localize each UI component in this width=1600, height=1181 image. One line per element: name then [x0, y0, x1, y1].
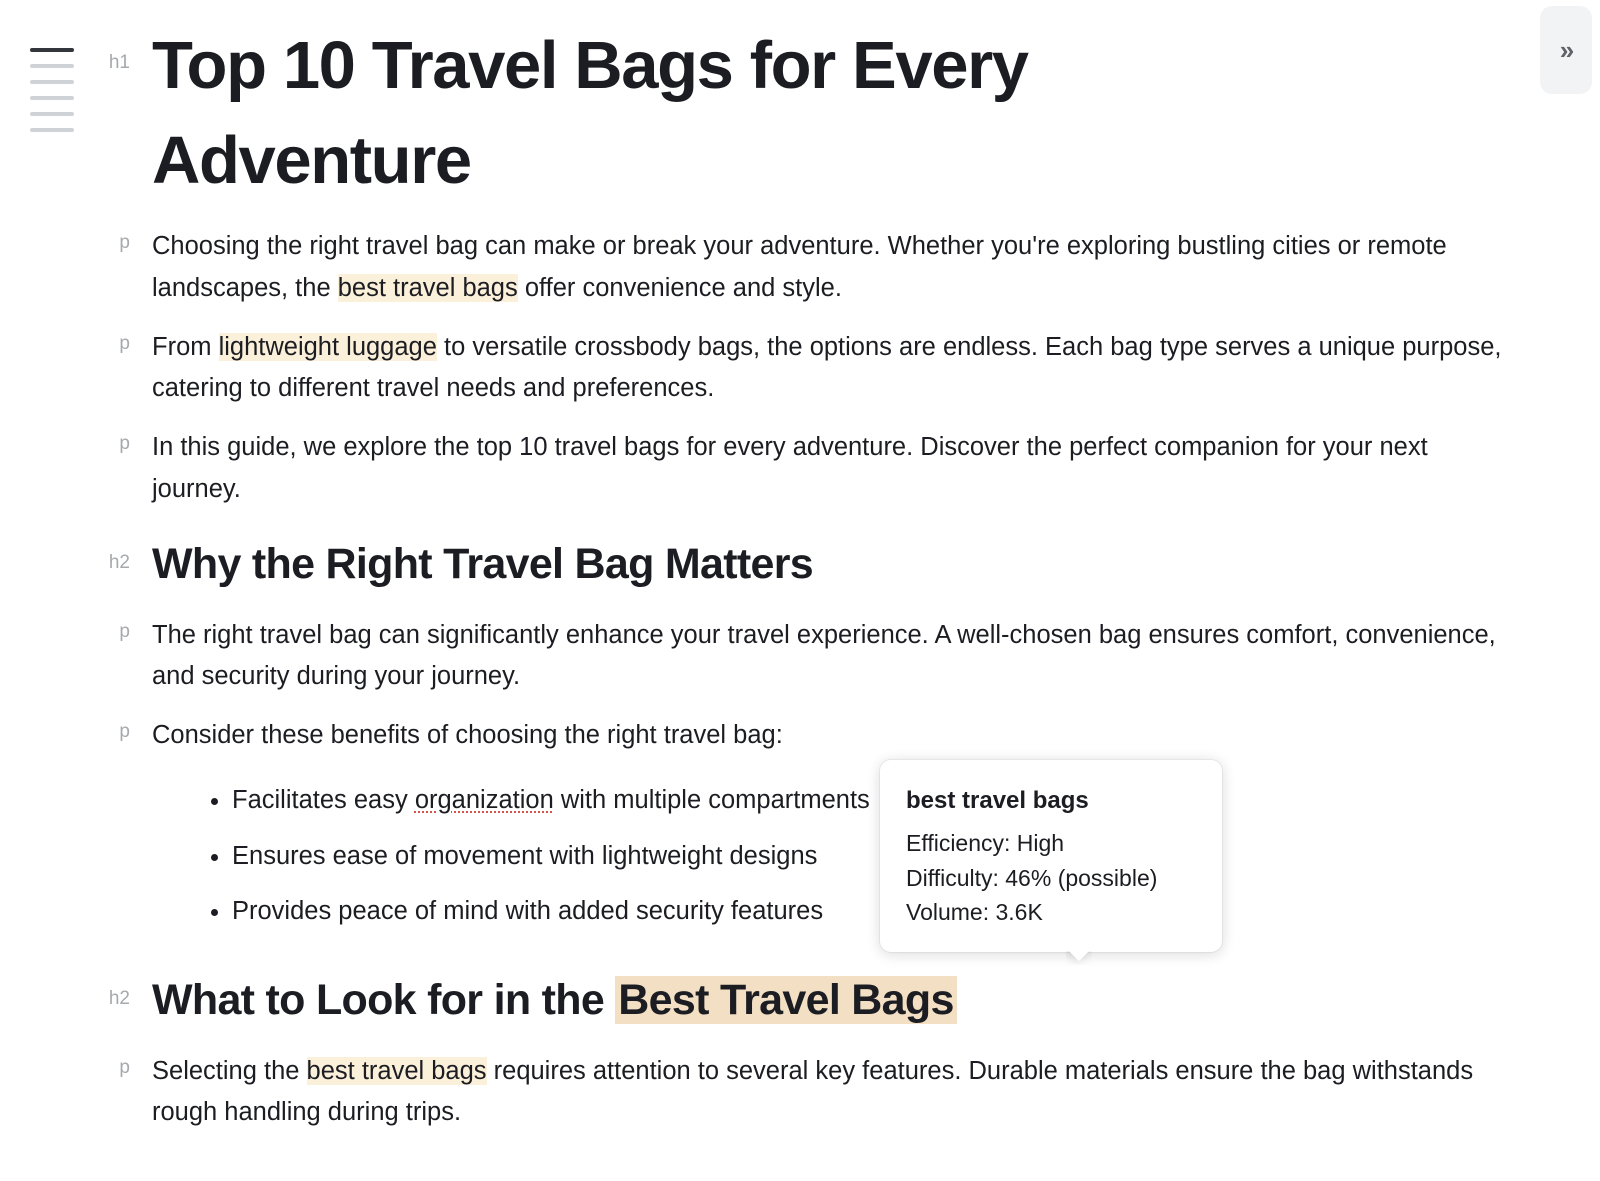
section-heading: Why the Right Travel Bag Matters	[152, 532, 1520, 597]
block-paragraph-4[interactable]: p The right travel bag can significantly…	[0, 615, 1600, 698]
spellcheck-error-word[interactable]: organization	[415, 786, 554, 814]
block-paragraph-5[interactable]: p Consider these benefits of choosing th…	[0, 715, 1600, 756]
block-marker-p: p	[0, 1051, 152, 1079]
paragraph-text: Consider these benefits of choosing the …	[152, 715, 1520, 756]
page-title: Top 10 Travel Bags for Every Adventure	[152, 18, 1282, 208]
block-paragraph-3[interactable]: p In this guide, we explore the top 10 t…	[0, 427, 1600, 510]
text-segment: with multiple compartments	[554, 786, 870, 814]
tooltip-difficulty-row: Difficulty: 46% (possible)	[906, 861, 1196, 896]
block-paragraph-1[interactable]: p Choosing the right travel bag can make…	[0, 226, 1600, 309]
block-content[interactable]: Why the Right Travel Bag Matters	[152, 532, 1600, 597]
block-marker-p: p	[0, 715, 152, 743]
block-content[interactable]: The right travel bag can significantly e…	[152, 615, 1600, 698]
block-content[interactable]: Selecting the best travel bags requires …	[152, 1051, 1600, 1134]
block-content[interactable]: Top 10 Travel Bags for Every Adventure	[152, 18, 1600, 208]
keyword-highlight-best-travel-bags-active[interactable]: Best Travel Bags	[615, 976, 956, 1024]
block-marker-h2: h2	[0, 968, 152, 1010]
tooltip-pointer	[1066, 951, 1092, 965]
block-marker-p: p	[0, 226, 152, 254]
block-content[interactable]: What to Look for in the Best Travel Bags	[152, 968, 1600, 1033]
tooltip-efficiency-row: Efficiency: High	[906, 826, 1196, 861]
block-marker-p: p	[0, 427, 152, 455]
paragraph-text: Choosing the right travel bag can make o…	[152, 226, 1520, 309]
block-h1[interactable]: h1 Top 10 Travel Bags for Every Adventur…	[0, 18, 1600, 208]
text-segment: Provides peace of mind with added securi…	[232, 897, 823, 925]
block-content[interactable]: In this guide, we explore the top 10 tra…	[152, 427, 1600, 510]
text-segment: Ensures ease of movement with lightweigh…	[232, 842, 817, 870]
keyword-metrics-tooltip: best travel bags Efficiency: High Diffic…	[880, 760, 1222, 952]
block-content[interactable]: From lightweight luggage to versatile cr…	[152, 327, 1600, 410]
document-editor: » h1 Top 10 Travel Bags for Every Advent…	[0, 0, 1600, 1181]
block-marker-h1: h1	[0, 18, 152, 74]
block-marker-h2: h2	[0, 532, 152, 574]
block-marker-p: p	[0, 327, 152, 355]
keyword-highlight-best-travel-bags[interactable]: best travel bags	[338, 274, 518, 302]
paragraph-text: The right travel bag can significantly e…	[152, 615, 1520, 698]
keyword-highlight-best-travel-bags[interactable]: best travel bags	[307, 1057, 487, 1085]
block-paragraph-6[interactable]: p Selecting the best travel bags require…	[0, 1051, 1600, 1134]
block-bullet-list[interactable]: Facilitates easy organization with multi…	[0, 766, 1600, 946]
list-item: Ensures ease of movement with lightweigh…	[232, 836, 1520, 877]
text-segment: Selecting the	[152, 1057, 307, 1085]
tooltip-keyword-title: best travel bags	[906, 786, 1196, 816]
list-item: Facilitates easy organization with multi…	[232, 780, 1520, 821]
text-segment: Facilitates easy	[232, 786, 415, 814]
text-segment: offer convenience and style.	[518, 274, 842, 302]
block-content[interactable]: Consider these benefits of choosing the …	[152, 715, 1600, 756]
block-heading-2-first[interactable]: h2 Why the Right Travel Bag Matters	[0, 532, 1600, 597]
paragraph-text: In this guide, we explore the top 10 tra…	[152, 427, 1520, 510]
block-heading-2-second[interactable]: h2 What to Look for in the Best Travel B…	[0, 968, 1600, 1033]
block-content[interactable]: Facilitates easy organization with multi…	[152, 766, 1600, 946]
section-heading: What to Look for in the Best Travel Bags	[152, 968, 1520, 1033]
paragraph-text: From lightweight luggage to versatile cr…	[152, 327, 1520, 410]
text-segment: From	[152, 333, 219, 361]
list-item: Provides peace of mind with added securi…	[232, 891, 1520, 932]
block-content[interactable]: Choosing the right travel bag can make o…	[152, 226, 1600, 309]
tooltip-volume-row: Volume: 3.6K	[906, 895, 1196, 930]
block-marker-p: p	[0, 615, 152, 643]
paragraph-text: Selecting the best travel bags requires …	[152, 1051, 1520, 1134]
keyword-highlight-lightweight-luggage[interactable]: lightweight luggage	[219, 333, 437, 361]
block-paragraph-2[interactable]: p From lightweight luggage to versatile …	[0, 327, 1600, 410]
text-segment: What to Look for in the	[152, 976, 615, 1024]
benefits-list: Facilitates easy organization with multi…	[152, 780, 1520, 932]
